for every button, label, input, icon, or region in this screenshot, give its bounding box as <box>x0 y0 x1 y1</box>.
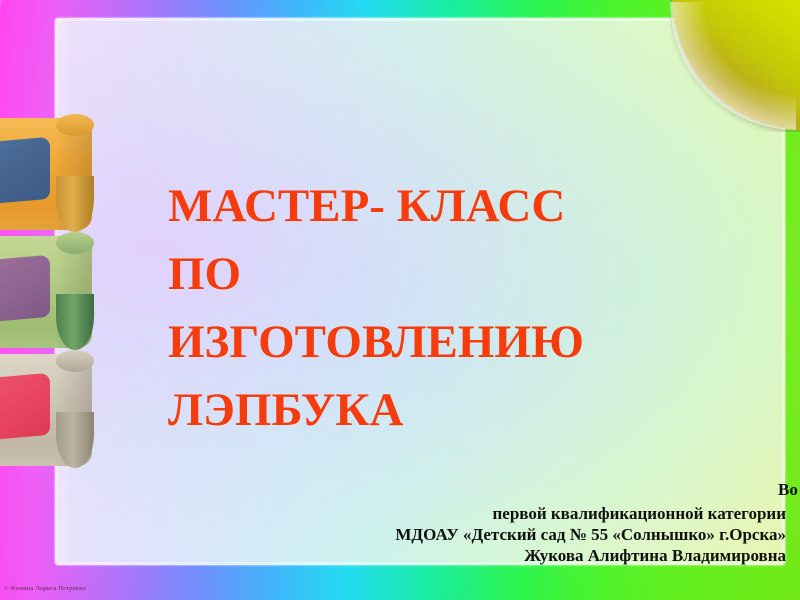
presentation-slide: МАСТЕР- КЛАСС ПО ИЗГОТОВЛЕНИЮ ЛЭПБУКА Во… <box>0 0 800 600</box>
overflow-text-fragment: Во <box>778 479 798 500</box>
slide-subtitle-block: первой квалификационной категории МДОАУ … <box>120 503 786 566</box>
watermark-credit: © Фомина Лариса Петровна <box>4 586 86 592</box>
subtitle-line-qualification: первой квалификационной категории <box>120 503 786 524</box>
subtitle-line-institution: МДОАУ «Детский сад № 55 «Солнышко» г.Орс… <box>120 524 786 545</box>
slide-title: МАСТЕР- КЛАСС ПО ИЗГОТОВЛЕНИЮ ЛЭПБУКА <box>168 172 708 444</box>
subtitle-line-author: Жукова Алифтина Владимировна <box>120 545 786 566</box>
